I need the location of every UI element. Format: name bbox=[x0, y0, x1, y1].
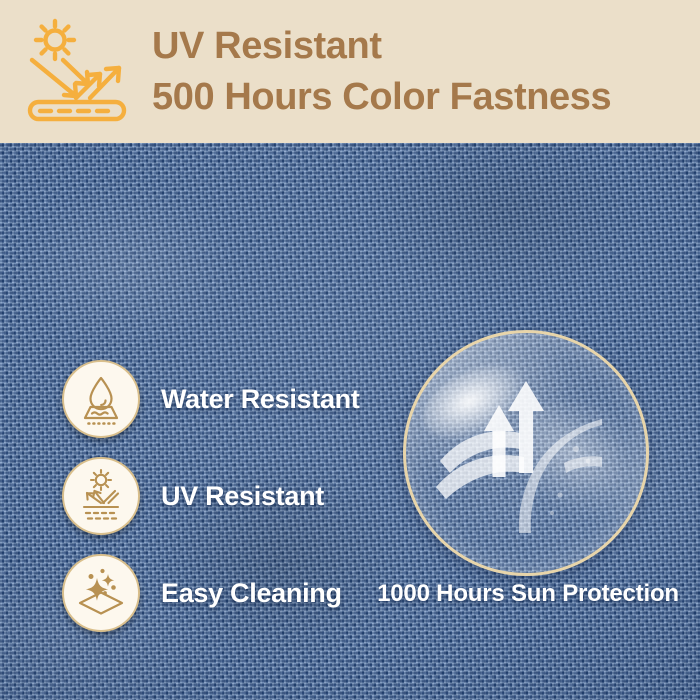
product-feature-poster: UV Resistant 500 Hours Color Fastness bbox=[0, 0, 700, 700]
sun-uv-shield-icon bbox=[62, 457, 140, 535]
feature-label-uv-resistant: UV Resistant bbox=[161, 481, 324, 512]
feature-row-easy-cleaning: Easy Cleaning bbox=[62, 554, 360, 632]
water-droplet-icon bbox=[62, 360, 140, 438]
glass-disc bbox=[403, 330, 649, 576]
feature-label-water-resistant: Water Resistant bbox=[161, 384, 360, 415]
sun-protection-caption: 1000 Hours Sun Protection bbox=[368, 580, 688, 608]
header-line-1: UV Resistant bbox=[152, 21, 692, 72]
feature-label-easy-cleaning: Easy Cleaning bbox=[161, 578, 342, 609]
header-line-2: 500 Hours Color Fastness bbox=[152, 72, 692, 123]
sun-uv-deflect-icon bbox=[18, 16, 138, 128]
header-text-block: UV Resistant 500 Hours Color Fastness bbox=[152, 21, 692, 123]
feature-row-uv-resistant: UV Resistant bbox=[62, 457, 360, 535]
sun-protection-glass-circle bbox=[403, 330, 649, 576]
sparkle-clean-icon bbox=[62, 554, 140, 632]
feature-row-water-resistant: Water Resistant bbox=[62, 360, 360, 438]
header-band: UV Resistant 500 Hours Color Fastness bbox=[0, 0, 700, 143]
feature-list: Water Resistant bbox=[62, 360, 360, 651]
uv-arrows-emblem bbox=[406, 333, 646, 573]
